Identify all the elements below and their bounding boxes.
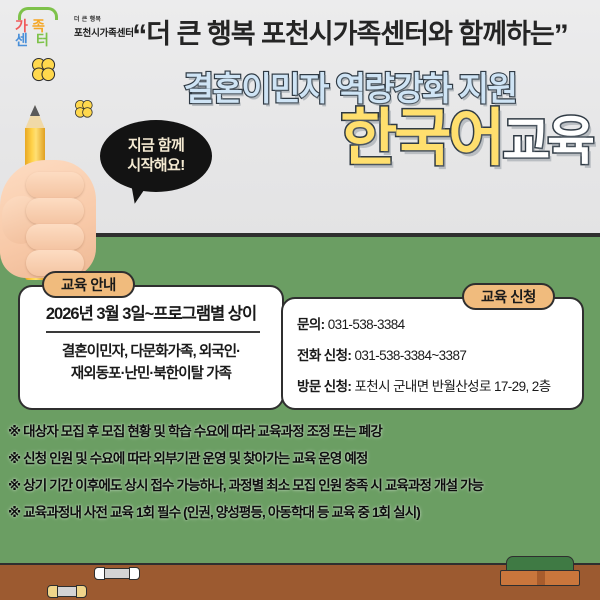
inquiry-label: 문의:	[297, 317, 325, 332]
note-item: ※ 신청 인원 및 수요에 따라 외부기관 운영 및 찾아가는 교육 운영 예정	[8, 451, 594, 468]
speech-bubble: 지금 함께 시작해요!	[100, 120, 212, 192]
headline-main-rest: 교육	[502, 113, 592, 171]
visit-apply-row: 방문 신청: 포천시 군내면 반월산성로 17-29, 2층	[297, 375, 551, 395]
quote-close-icon: ”	[554, 19, 568, 52]
phone-apply-number[interactable]: 031-538-3384~3387	[354, 348, 466, 363]
info-card: 2026년 3월 3일~프로그램별 상이 결혼이민자, 다문화가족, 외국인· …	[18, 285, 284, 410]
headline-subtitle: “더 큰 행복 포천시가족센터와 함께하는”	[110, 12, 590, 53]
target-audience-line2: 재외동포·난민·북한이탈 가족	[20, 363, 282, 385]
apply-card-badge: 교육 신청	[462, 283, 555, 310]
hand-finger	[26, 172, 84, 198]
headline-main: 한국어교육	[160, 108, 592, 170]
hand-finger	[26, 198, 84, 224]
inquiry-row: 문의: 031-538-3384	[297, 313, 405, 333]
visit-apply-address: 포천시 군내면 반월산성로 17-29, 2층	[354, 379, 550, 394]
course-date: 2026년 3월 3일~프로그램별 상이	[20, 300, 282, 324]
speech-bubble-line2: 시작해요!	[127, 156, 184, 176]
target-audience-line1: 결혼이민자, 다문화가족, 외국인·	[20, 341, 282, 363]
poster-root: 가 족 센 터 더 큰 행복 포천시가족센터 “더 큰 행복 포천시가족센터와 …	[0, 0, 600, 600]
chalk-yellow-icon	[48, 586, 86, 597]
phone-apply-row: 전화 신청: 031-538-3384~3387	[297, 344, 466, 364]
note-item: ※ 대상자 모집 후 모집 현황 및 학습 수요에 따라 교육과정 조정 또는 …	[8, 424, 594, 441]
headline-subtitle-text: 더 큰 행복 포천시가족센터와 함께하는	[146, 19, 553, 49]
phone-apply-label: 전화 신청:	[297, 348, 351, 363]
speech-bubble-line1: 지금 함께	[128, 136, 184, 156]
headline-secondary: 결혼이민자 역량강화 지원	[110, 62, 590, 110]
apply-card: 문의: 031-538-3384 전화 신청: 031-538-3384~338…	[281, 297, 584, 410]
card-divider	[46, 331, 260, 333]
logo-char-teo: 터	[36, 30, 49, 50]
hand-finger	[26, 224, 84, 250]
chalk-white-icon	[95, 568, 139, 579]
inquiry-phone[interactable]: 031-538-3384	[328, 317, 405, 332]
logo-char-sen: 센	[15, 30, 28, 50]
notes-list: ※ 대상자 모집 후 모집 현황 및 학습 수요에 따라 교육과정 조정 또는 …	[8, 424, 594, 532]
note-item: ※ 상기 기간 이후에도 상시 접수 가능하나, 과정별 최소 모집 인원 충족…	[8, 478, 594, 495]
info-card-badge: 교육 안내	[42, 271, 135, 298]
quote-open-icon: “	[132, 19, 146, 52]
family-center-logo-icon: 가 족 센 터	[10, 5, 68, 47]
blackboard-eraser-icon	[500, 556, 580, 584]
visit-apply-label: 방문 신청:	[297, 379, 351, 394]
note-item: ※ 교육과정내 사전 교육 1회 필수 (인권, 양성평등, 아동학대 등 교육…	[8, 505, 594, 522]
target-audience: 결혼이민자, 다문화가족, 외국인· 재외동포·난민·북한이탈 가족	[20, 341, 282, 386]
headline-main-highlight: 한국어	[340, 104, 502, 173]
